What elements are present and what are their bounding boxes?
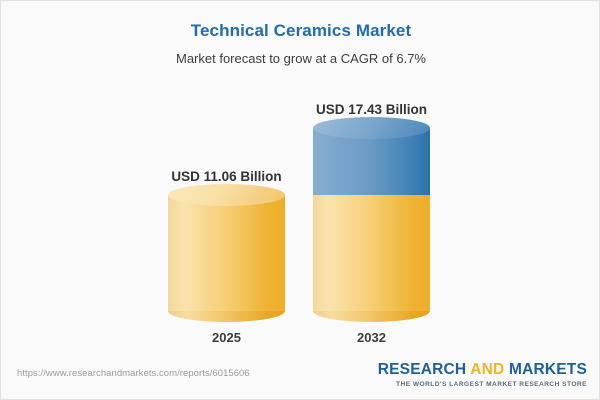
bar-cylinder-2025[interactable] — [168, 195, 285, 311]
brand-tagline: THE WORLD'S LARGEST MARKET RESEARCH STOR… — [378, 381, 587, 388]
infographic-card: Technical Ceramics Market Market forecas… — [0, 0, 600, 400]
chart-footer: https://www.researchandmarkets.com/repor… — [1, 354, 600, 399]
bar-group-2032: USD 17.43 Billion 2032 — [313, 128, 430, 311]
chart-plot-area: USD 11.06 Billion 2025 USD 17.43 Billion… — [1, 1, 600, 356]
brand-logo[interactable]: RESEARCH AND MARKETS THE WORLD'S LARGEST… — [378, 362, 587, 388]
bar-segment-base-2032 — [313, 195, 430, 311]
bar-cylinder-2032[interactable] — [313, 128, 430, 311]
axis-label-2025: 2025 — [212, 330, 241, 345]
axis-label-2032: 2032 — [357, 330, 386, 345]
brand-word-markets: MARKETS — [509, 361, 587, 378]
value-label-2025: USD 11.06 Billion — [171, 169, 281, 184]
bar-segment-base-2025 — [168, 195, 285, 311]
bar-group-2025: USD 11.06 Billion 2025 — [168, 195, 285, 311]
value-label-2032: USD 17.43 Billion — [316, 102, 427, 117]
brand-word-research: RESEARCH — [378, 361, 467, 378]
brand-word-and: AND — [470, 361, 504, 378]
source-url[interactable]: https://www.researchandmarkets.com/repor… — [17, 368, 250, 379]
bar-top-cap-2025 — [168, 184, 285, 206]
bar-top-cap-2032 — [313, 117, 430, 139]
brand-name: RESEARCH AND MARKETS — [378, 362, 587, 378]
